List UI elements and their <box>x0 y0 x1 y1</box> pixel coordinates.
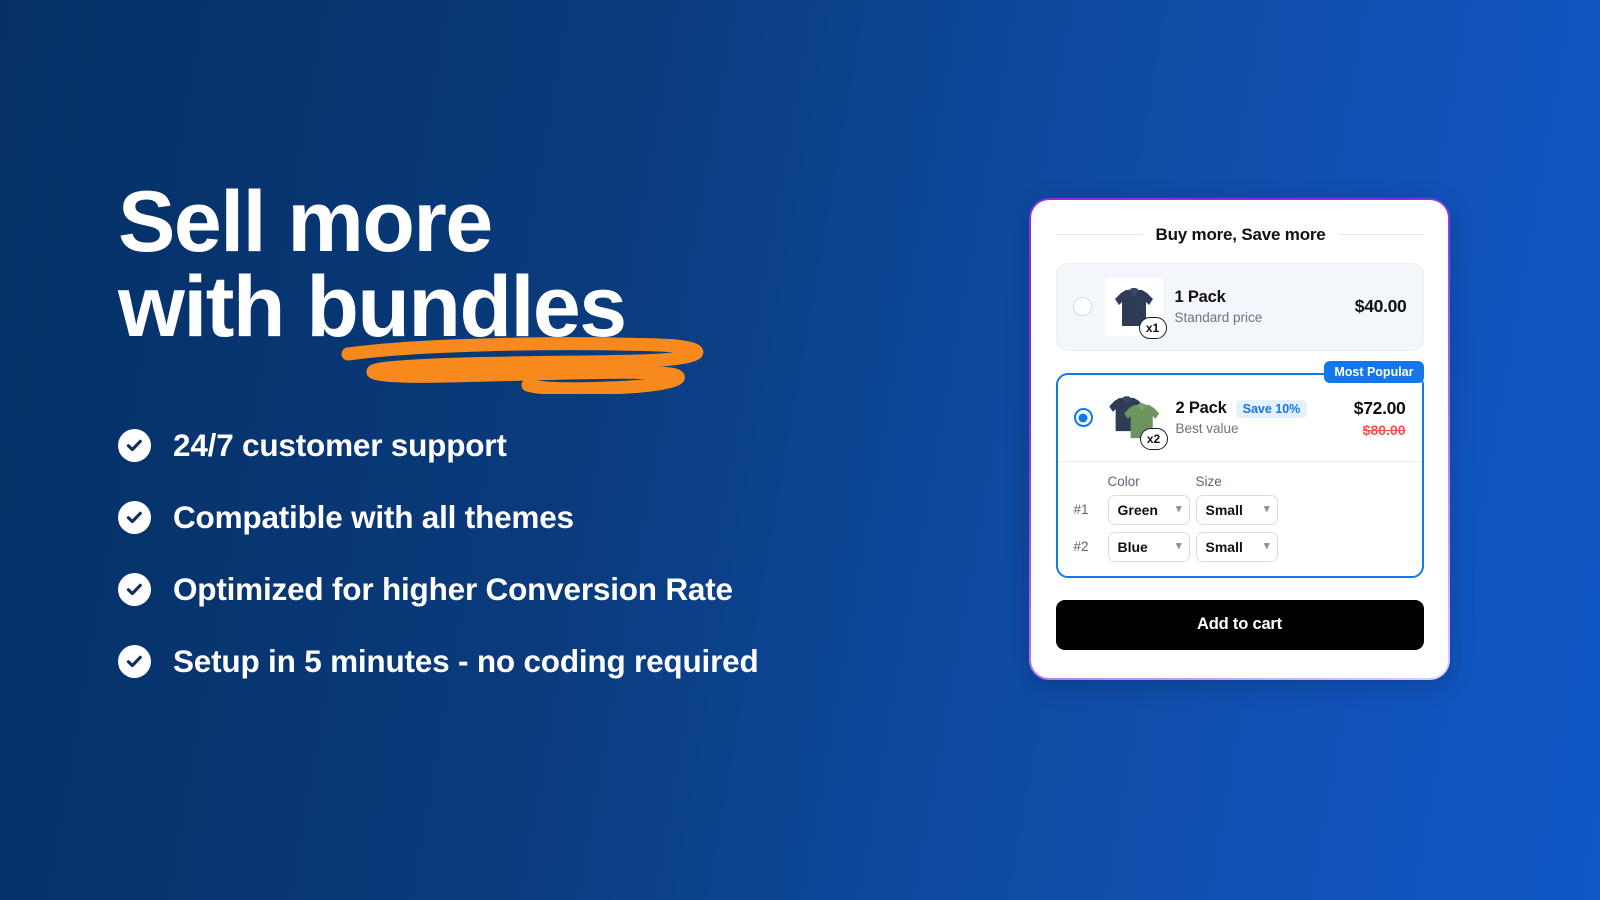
feature-label: Optimized for higher Conversion Rate <box>173 571 733 608</box>
option-price: $72.00 <box>1354 398 1406 419</box>
option-price-column: $40.00 <box>1347 296 1407 317</box>
widget-header: Buy more, Save more <box>1056 225 1424 245</box>
option-subtitle: Standard price <box>1175 310 1347 325</box>
check-circle-icon <box>118 573 151 606</box>
feature-label: 24/7 customer support <box>173 427 507 464</box>
option-details: 2 Pack Save 10% Best value <box>1176 399 1346 436</box>
feature-label: Compatible with all themes <box>173 499 574 536</box>
column-header-size: Size <box>1196 474 1222 489</box>
chevron-down-icon: ▾ <box>1176 504 1182 515</box>
bundle-option-2-pack[interactable]: Most Popular x2 <box>1056 373 1424 578</box>
hero-section: Sell more with bundles 24/7 customer sup… <box>118 180 938 712</box>
check-circle-icon <box>118 501 151 534</box>
widget-title: Buy more, Save more <box>1156 225 1326 245</box>
headline-line-2: with bundles <box>118 265 626 350</box>
color-select-2-value: Blue <box>1118 539 1148 555</box>
table-row: #1 Green ▾ Small ▾ <box>1074 495 1406 525</box>
option-compare-price: $80.00 <box>1354 422 1406 438</box>
variant-selector-table: Color Size #1 Green ▾ Small ▾ #2 <box>1058 461 1422 576</box>
quantity-badge: x2 <box>1140 428 1168 450</box>
add-to-cart-button[interactable]: Add to cart <box>1056 600 1424 650</box>
table-row: #2 Blue ▾ Small ▾ <box>1074 532 1406 562</box>
option-price-column: $72.00 $80.00 <box>1346 398 1406 438</box>
bundle-option-1-pack[interactable]: x1 1 Pack Standard price $40.00 <box>1056 263 1424 351</box>
option-name: 1 Pack <box>1175 288 1226 307</box>
variant-index: #1 <box>1074 502 1108 517</box>
check-circle-icon <box>118 429 151 462</box>
chevron-down-icon: ▾ <box>1264 504 1270 515</box>
check-circle-icon <box>118 645 151 678</box>
chevron-down-icon: ▾ <box>1264 541 1270 552</box>
option-name: 2 Pack <box>1176 399 1227 418</box>
radio-1-pack[interactable] <box>1073 297 1092 316</box>
list-item: 24/7 customer support <box>118 424 938 466</box>
quantity-badge: x1 <box>1139 317 1167 339</box>
divider-right <box>1340 234 1424 235</box>
product-thumbnail-2-pack: x2 <box>1106 389 1164 447</box>
radio-2-pack[interactable] <box>1074 408 1093 427</box>
size-select-1-value: Small <box>1206 502 1243 518</box>
list-item: Compatible with all themes <box>118 496 938 538</box>
size-select-2-value: Small <box>1206 539 1243 555</box>
list-item: Setup in 5 minutes - no coding required <box>118 640 938 682</box>
column-header-color: Color <box>1108 474 1196 489</box>
variant-table-header: Color Size <box>1074 474 1406 489</box>
size-select-1[interactable]: Small ▾ <box>1196 495 1278 525</box>
feature-label: Setup in 5 minutes - no coding required <box>173 643 759 680</box>
option-subtitle: Best value <box>1176 421 1346 436</box>
variant-index: #2 <box>1074 539 1108 554</box>
save-badge: Save 10% <box>1236 400 1308 418</box>
chevron-down-icon: ▾ <box>1176 541 1182 552</box>
color-select-1-value: Green <box>1118 502 1158 518</box>
page-title: Sell more with bundles <box>118 180 938 350</box>
option-price: $40.00 <box>1355 296 1407 317</box>
headline-line-1: Sell more <box>118 174 492 270</box>
color-select-2[interactable]: Blue ▾ <box>1108 532 1190 562</box>
product-thumbnail-1-pack: x1 <box>1105 278 1163 336</box>
color-select-1[interactable]: Green ▾ <box>1108 495 1190 525</box>
bundle-widget-card: Buy more, Save more x1 1 Pack Standard p… <box>1029 198 1450 680</box>
list-item: Optimized for higher Conversion Rate <box>118 568 938 610</box>
size-select-2[interactable]: Small ▾ <box>1196 532 1278 562</box>
feature-list: 24/7 customer support Compatible with al… <box>118 424 938 682</box>
status-badge-most-popular: Most Popular <box>1324 361 1423 383</box>
divider-left <box>1056 234 1142 235</box>
option-details: 1 Pack Standard price <box>1175 288 1347 325</box>
